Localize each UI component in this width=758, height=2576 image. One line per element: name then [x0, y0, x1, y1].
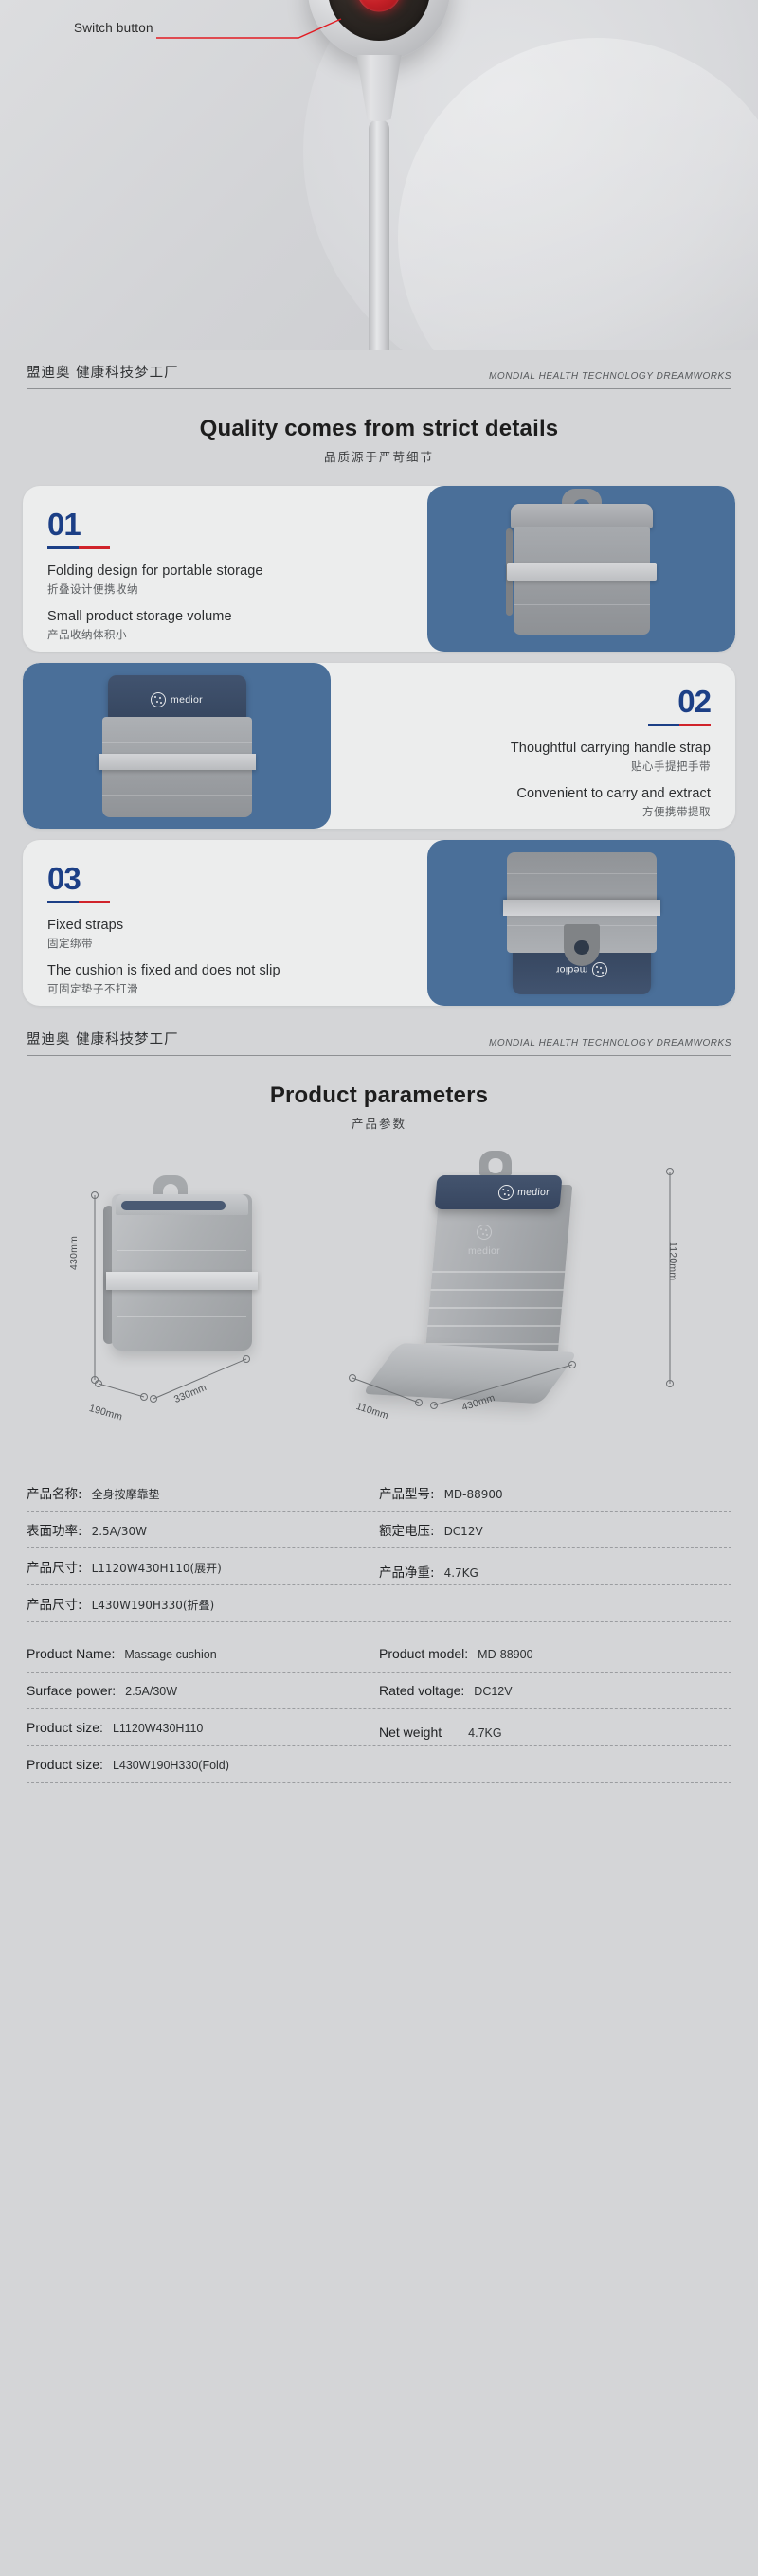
feature-rule-01	[47, 546, 110, 549]
feature-rule-02	[648, 724, 711, 726]
brand-name-en: MONDIAL HEALTH TECHNOLOGY DREAMWORKS	[489, 371, 731, 382]
spec-cell: 产品名称: 全身按摩靠垫	[27, 1483, 379, 1502]
spec-cell: 产品尺寸: L1120W430H110(展开)	[27, 1557, 379, 1576]
spec-table-cn: 产品名称: 全身按摩靠垫 产品型号: MD-88900 表面功率: 2.5A/3…	[0, 1467, 758, 1622]
feature-01-line1-cn: 折叠设计便携收纳	[47, 581, 403, 597]
spec-cell: Product size: L430W190H330(Fold)	[27, 1757, 379, 1772]
spec-cell: 表面功率: 2.5A/30W	[27, 1520, 379, 1539]
cushion-strap	[99, 754, 256, 770]
table-row: 产品名称: 全身按摩靠垫 产品型号: MD-88900	[27, 1475, 731, 1512]
spec-cell: Product Name: Massage cushion	[27, 1646, 379, 1661]
spec-cell: 额定电压: DC12V	[379, 1520, 731, 1539]
switch-button-callout: Switch button	[74, 21, 153, 35]
power-icon	[357, 0, 402, 12]
cushion-with-logo-illustration: medior	[102, 675, 252, 817]
quality-title-cn: 品质源于严苛细节	[0, 447, 758, 465]
spec-label: Product size:	[27, 1757, 103, 1772]
rule-segment-blue	[648, 724, 679, 726]
feature-card-01-text: 01 Folding design for portable storage 折…	[23, 486, 427, 652]
table-row: Product Name: Massage cushion Product mo…	[27, 1636, 731, 1673]
medior-logo-icon	[592, 962, 607, 977]
feature-01-line1-en: Folding design for portable storage	[47, 563, 403, 579]
feature-03-line1-en: Fixed straps	[47, 918, 403, 933]
spec-cell: Surface power: 2.5A/30W	[27, 1683, 379, 1698]
feature-number-03: 03	[47, 863, 403, 894]
controller-device-illustration	[280, 0, 478, 350]
feature-03-line1-cn: 固定绑带	[47, 936, 403, 951]
cushion-strap	[507, 563, 657, 581]
spec-cell: 产品型号: MD-88900	[379, 1483, 731, 1502]
feature-number-01: 01	[47, 509, 403, 540]
feature-rule-03	[47, 901, 110, 903]
table-row: Surface power: 2.5A/30W Rated voltage: D…	[27, 1673, 731, 1709]
controller-face	[328, 0, 430, 41]
folded-cushion-illustration	[511, 504, 653, 635]
brand-name-cn: 盟迪奥 健康科技梦工厂	[27, 362, 179, 382]
rule-segment-blue	[47, 546, 79, 549]
spec-value: 2.5A/30W	[125, 1685, 177, 1698]
brand-name-cn: 盟迪奥 健康科技梦工厂	[27, 1029, 179, 1048]
rule-segment-red	[79, 546, 110, 549]
feature-01-line2-cn: 产品收纳体积小	[47, 627, 403, 642]
cushion-inverted-illustration: medior	[507, 852, 657, 994]
feature-number-02: 02	[355, 686, 711, 717]
feature-01-line2-en: Small product storage volume	[47, 609, 403, 624]
params-section-title: Product parameters 产品参数	[0, 1082, 758, 1132]
spec-value: MD-88900	[444, 1488, 503, 1501]
medior-logo-icon	[151, 692, 166, 707]
feature-02-image: medior	[23, 663, 331, 829]
table-row: 表面功率: 2.5A/30W 额定电压: DC12V	[27, 1512, 731, 1548]
cushion-lid	[511, 504, 653, 528]
hero-section: Switch button	[0, 0, 758, 350]
spec-value: DC12V	[444, 1525, 483, 1538]
feature-02-line2-cn: 方便携带提取	[355, 804, 711, 819]
feature-03-image: medior	[427, 840, 735, 1006]
spec-label: 产品尺寸:	[27, 1594, 82, 1613]
feature-cards: 01 Folding design for portable storage 折…	[0, 486, 758, 1006]
spec-label: Product model:	[379, 1646, 468, 1661]
switch-button-callout-label: Switch button	[74, 21, 153, 35]
brand-bar-bottom: 盟迪奥 健康科技梦工厂 MONDIAL HEALTH TECHNOLOGY DR…	[0, 1017, 758, 1062]
feature-01-image	[427, 486, 735, 652]
spec-cell: 产品净重: 4.7KG	[379, 1552, 731, 1581]
controller-head	[308, 0, 450, 61]
spec-label: 表面功率:	[27, 1520, 82, 1539]
spec-label: 产品型号:	[379, 1483, 435, 1502]
spec-label: 产品尺寸:	[27, 1557, 82, 1576]
dimension-label-open-height: 1120mm	[667, 1242, 678, 1280]
brand-bar-top: 盟迪奥 健康科技梦工厂 MONDIAL HEALTH TECHNOLOGY DR…	[0, 350, 758, 395]
product-detail-page: Switch button 盟迪奥 健康科技梦工厂 MONDIAL HEALTH…	[0, 0, 758, 2576]
feature-card-02: 02 Thoughtful carrying handle strap 贴心手提…	[23, 663, 735, 829]
spec-value: L1120W430H110	[113, 1722, 203, 1735]
feature-02-line1-en: Thoughtful carrying handle strap	[355, 741, 711, 756]
feature-03-line2-cn: 可固定垫子不打滑	[47, 981, 403, 996]
feature-02-line2-en: Convenient to carry and extract	[355, 786, 711, 801]
spec-value: L1120W430H110(展开)	[92, 1560, 222, 1576]
quality-section-title: Quality comes from strict details 品质源于严苛…	[0, 416, 758, 465]
params-title-cn: 产品参数	[0, 1114, 758, 1132]
params-title-en: Product parameters	[0, 1082, 758, 1109]
spec-cell: Rated voltage: DC12V	[379, 1683, 731, 1698]
spec-value: DC12V	[474, 1685, 512, 1698]
spec-label: 额定电压:	[379, 1520, 435, 1539]
rule-segment-red	[79, 901, 110, 903]
spec-cell: Product model: MD-88900	[379, 1646, 731, 1661]
spec-label: Product Name:	[27, 1646, 115, 1661]
spec-label: 产品名称:	[27, 1483, 82, 1502]
spec-value: 2.5A/30W	[92, 1525, 147, 1538]
dimension-label-folded-height: 430mm	[68, 1236, 80, 1270]
feature-card-01: 01 Folding design for portable storage 折…	[23, 486, 735, 652]
table-row: 产品尺寸: L1120W430H110(展开) 产品净重: 4.7KG	[27, 1548, 731, 1585]
spec-value: 全身按摩靠垫	[92, 1486, 160, 1502]
table-row: Product size: L1120W430H110 Net weight 4…	[27, 1709, 731, 1746]
spec-cell: Product size: L1120W430H110	[27, 1720, 379, 1735]
brand-logo-text: medior	[171, 694, 203, 706]
feature-card-02-text: 02 Thoughtful carrying handle strap 贴心手提…	[331, 663, 735, 829]
feature-card-03-text: 03 Fixed straps 固定绑带 The cushion is fixe…	[23, 840, 427, 1006]
dimension-diagram: medior medior	[0, 1145, 758, 1458]
spec-label: 产品净重:	[379, 1562, 435, 1581]
feature-02-line1-cn: 贴心手提把手带	[355, 759, 711, 774]
quality-title-en: Quality comes from strict details	[0, 416, 758, 442]
spec-value: L430W190H330(Fold)	[113, 1759, 229, 1772]
spec-cell: 产品尺寸: L430W190H330(折叠)	[27, 1594, 379, 1613]
spec-label: Product size:	[27, 1720, 103, 1735]
spec-value: 4.7KG	[468, 1726, 501, 1740]
spec-value: MD-88900	[478, 1648, 532, 1661]
spec-value: Massage cushion	[124, 1648, 216, 1661]
spec-label: Surface power:	[27, 1683, 116, 1698]
table-row: 产品尺寸: L430W190H330(折叠)	[27, 1585, 731, 1622]
feature-03-line2-en: The cushion is fixed and does not slip	[47, 963, 403, 978]
controller-neck	[352, 55, 406, 121]
controller-cable	[369, 119, 389, 350]
spec-table-en: Product Name: Massage cushion Product mo…	[0, 1636, 758, 1783]
spec-label: Net weight	[379, 1725, 442, 1740]
cushion-handle-tab	[564, 924, 600, 966]
spec-value: L430W190H330(折叠)	[92, 1597, 215, 1613]
cushion-fixing-strap	[503, 900, 660, 916]
spec-label: Rated voltage:	[379, 1683, 464, 1698]
feature-card-03: 03 Fixed straps 固定绑带 The cushion is fixe…	[23, 840, 735, 1006]
rule-segment-red	[679, 724, 711, 726]
spec-cell: Net weight 4.7KG	[379, 1715, 731, 1740]
brand-name-en: MONDIAL HEALTH TECHNOLOGY DREAMWORKS	[489, 1038, 731, 1048]
cushion-body	[514, 527, 650, 635]
table-row: Product size: L430W190H330(Fold)	[27, 1746, 731, 1783]
spec-value: 4.7KG	[444, 1566, 478, 1580]
rule-segment-blue	[47, 901, 79, 903]
